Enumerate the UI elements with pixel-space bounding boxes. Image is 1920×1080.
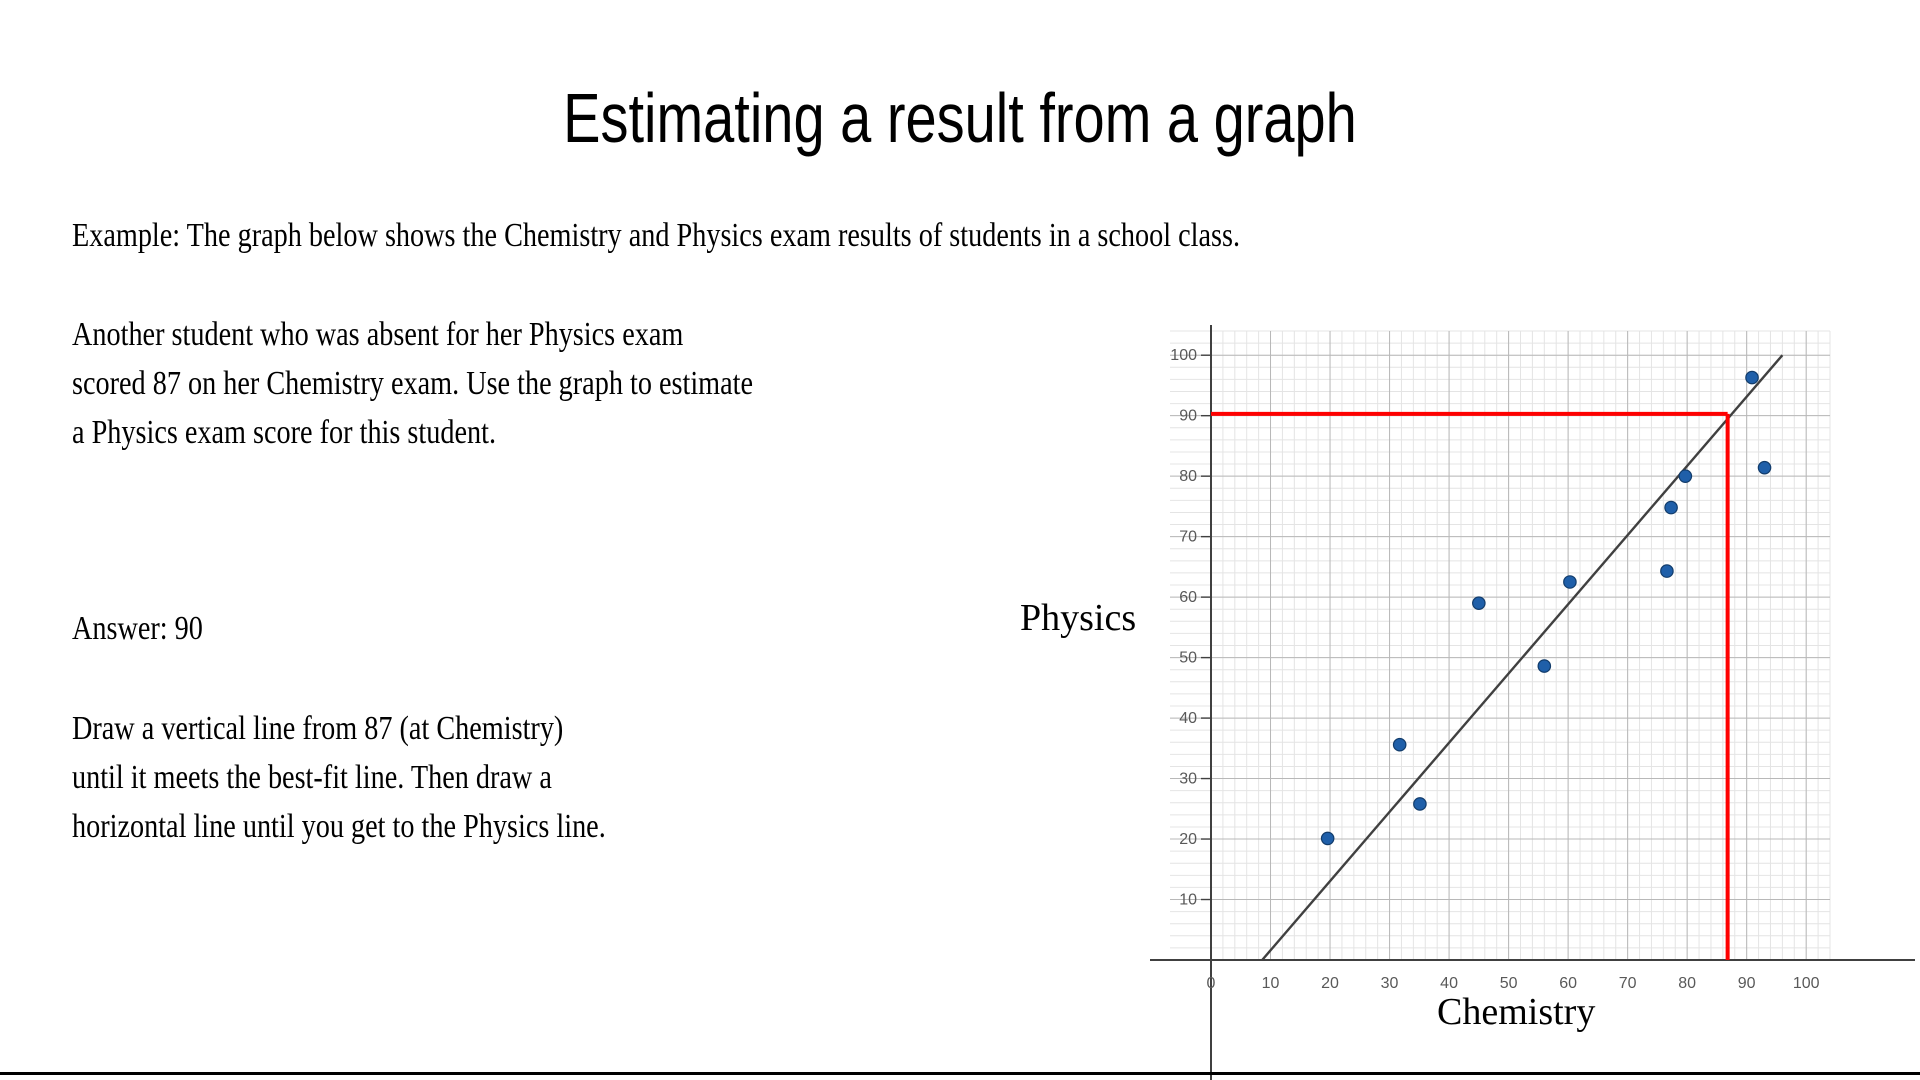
data-point [1321,832,1333,844]
y-tick-label: 70 [1179,529,1197,546]
y-tick-label: 50 [1179,650,1197,667]
lead-paragraph: Example: The graph below shows the Chemi… [72,216,1574,256]
data-point [1665,501,1677,513]
question-paragraph: Another student who was absent for her P… [72,310,1151,457]
footer-rule [0,1072,1920,1075]
y-tick-label: 60 [1179,589,1197,606]
x-tick-label: 20 [1321,975,1339,992]
scatter-plot-svg: 1020304050607080901000102030405060708090… [1150,320,1920,1080]
data-point [1414,798,1426,810]
data-point [1679,470,1691,482]
x-tick-label: 0 [1207,975,1216,992]
x-tick-label: 70 [1619,975,1637,992]
x-tick-label: 10 [1262,975,1280,992]
y-tick-label: 10 [1179,892,1197,909]
method-line-3: horizontal line until you get to the Phy… [72,802,1151,851]
question-line-3: a Physics exam score for this student. [72,408,1151,457]
y-tick-label: 40 [1179,710,1197,727]
method-line-1: Draw a vertical line from 87 (at Chemist… [72,704,1151,753]
x-tick-label: 30 [1381,975,1399,992]
x-tick-label: 100 [1793,975,1820,992]
method-paragraph: Draw a vertical line from 87 (at Chemist… [72,704,1151,851]
y-tick-label: 80 [1179,468,1197,485]
x-tick-label: 50 [1500,975,1518,992]
data-point [1746,371,1758,383]
data-point [1538,660,1550,672]
question-line-1: Another student who was absent for her P… [72,310,1151,359]
y-tick-label: 20 [1179,831,1197,848]
data-point [1758,461,1770,473]
y-tick-label: 90 [1179,408,1197,425]
data-point [1393,738,1405,750]
data-point [1564,576,1576,588]
method-line-2: until it meets the best-fit line. Then d… [72,753,1151,802]
x-tick-label: 90 [1738,975,1756,992]
data-point [1661,565,1673,577]
slide-canvas: Estimating a result from a graph Example… [0,0,1920,1080]
x-tick-label: 80 [1678,975,1696,992]
answer-text: Answer: 90 [72,604,570,653]
y-tick-label: 30 [1179,771,1197,788]
scatter-chart: 1020304050607080901000102030405060708090… [1150,320,1920,1080]
data-point [1473,597,1485,609]
x-tick-label: 40 [1440,975,1458,992]
x-tick-label: 60 [1559,975,1577,992]
page-title: Estimating a result from a graph [192,78,1728,158]
y-axis-title: Physics [1020,596,1136,640]
question-line-2: scored 87 on her Chemistry exam. Use the… [72,359,1151,408]
y-tick-label: 100 [1170,347,1197,364]
